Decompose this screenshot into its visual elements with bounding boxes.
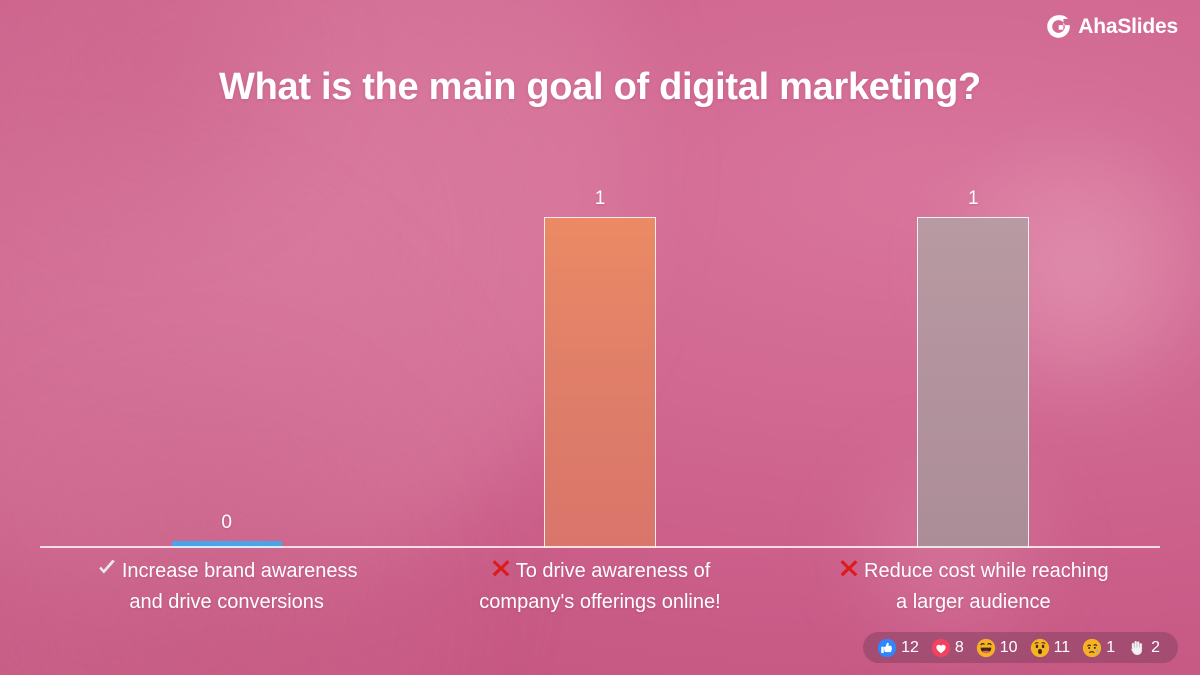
reaction-wow[interactable]: 11 [1024,638,1077,658]
bar-value-2: 1 [595,189,606,208]
chart-column-3: 1 [787,150,1160,548]
results-bar-chart: 0 1 1 [40,150,1160,548]
ahaslides-logo-icon [1046,14,1071,39]
reaction-thumbs-up-count: 12 [901,640,919,656]
heart-reaction-icon [931,638,951,658]
raised-hand-reaction-icon [1127,638,1147,658]
reaction-raised-hand-count: 2 [1151,640,1160,656]
thumbs-up-reaction-icon [877,638,897,658]
wow-reaction-icon [1030,638,1050,658]
answer-option-2-line1: To drive awareness of [516,560,711,582]
reaction-laugh[interactable]: 10 [970,638,1024,658]
reaction-laugh-count: 10 [1000,640,1018,656]
bar-3[interactable] [917,217,1029,548]
reaction-bar[interactable]: 12 8 10 [863,632,1178,663]
bar-2[interactable] [544,217,656,548]
ahaslides-branding: AhaSlides [1046,14,1178,39]
answer-option-3[interactable]: Reduce cost while reaching a larger audi… [787,556,1160,618]
answer-option-3-line1: Reduce cost while reaching [864,560,1109,582]
answer-option-1-line1: Increase brand awareness [122,560,358,582]
check-icon [96,557,118,579]
reaction-raised-hand[interactable]: 2 [1121,638,1166,658]
question-title: What is the main goal of digital marketi… [0,66,1200,109]
answer-option-1-line2: and drive conversions [129,591,324,613]
reaction-wow-count: 11 [1054,640,1071,656]
presentation-slide: AhaSlides What is the main goal of digit… [0,0,1200,675]
reaction-sad-count: 1 [1106,640,1115,656]
reaction-thumbs-up[interactable]: 12 [871,638,925,658]
answer-labels: Increase brand awareness and drive conve… [40,556,1160,618]
bar-value-1: 0 [221,513,232,532]
bar-value-3: 1 [968,189,979,208]
laugh-reaction-icon [976,638,996,658]
cross-icon [490,557,512,579]
answer-option-2-line2: company's offerings online! [479,591,720,613]
chart-column-1: 0 [40,150,413,548]
answer-option-3-line2: a larger audience [896,591,1051,613]
answer-option-1[interactable]: Increase brand awareness and drive conve… [40,556,413,618]
ahaslides-wordmark: AhaSlides [1078,16,1178,37]
cross-icon [838,557,860,579]
answer-option-2[interactable]: To drive awareness of company's offering… [413,556,786,618]
chart-column-2: 1 [413,150,786,548]
reaction-heart-count: 8 [955,640,964,656]
chart-baseline-axis [40,546,1160,548]
reaction-heart[interactable]: 8 [925,638,970,658]
sad-reaction-icon [1082,638,1102,658]
reaction-sad[interactable]: 1 [1076,638,1121,658]
